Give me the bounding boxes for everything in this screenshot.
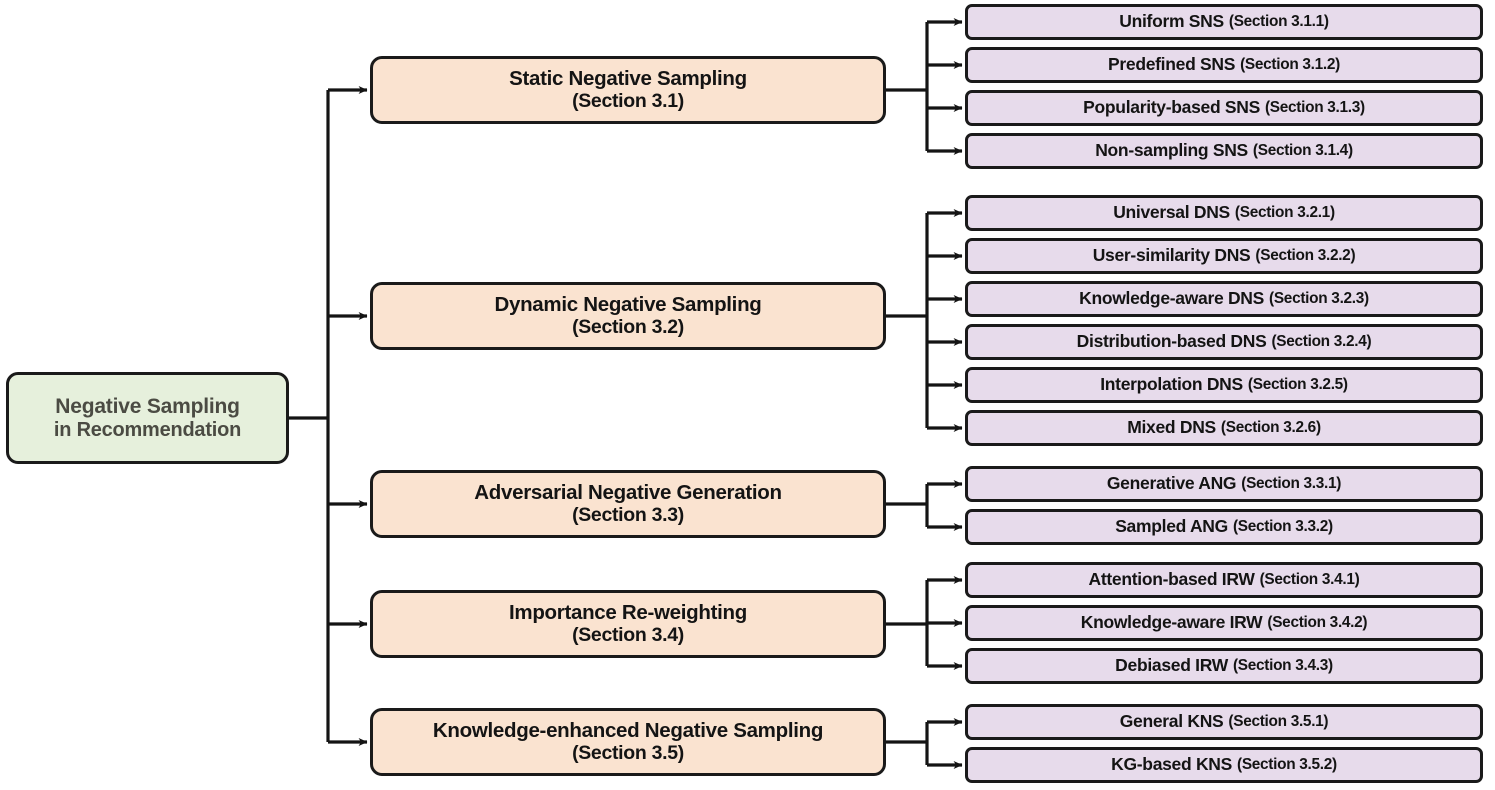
- branch-node-title: Adversarial Negative Generation: [474, 482, 781, 505]
- branch-node-dynamic-negative-sampling[interactable]: Dynamic Negative Sampling(Section 3.2): [370, 282, 886, 350]
- leaf-node-label: KG-based KNS: [1111, 755, 1232, 775]
- branch-node-section: (Section 3.1): [572, 91, 684, 113]
- leaf-node-section: (Section 3.5.2): [1237, 756, 1337, 773]
- leaf-node-label: Predefined SNS: [1108, 55, 1235, 75]
- leaf-node-section: (Section 3.3.2): [1233, 518, 1333, 535]
- leaf-node-section: (Section 3.2.6): [1221, 419, 1321, 436]
- leaf-node-label: Sampled ANG: [1115, 517, 1228, 537]
- leaf-node-section: (Section 3.2.4): [1271, 333, 1371, 350]
- leaf-node-section: (Section 3.4.3): [1233, 657, 1333, 674]
- leaf-node-kg-based-kns[interactable]: KG-based KNS(Section 3.5.2): [965, 747, 1483, 783]
- branch-node-title: Static Negative Sampling: [509, 68, 747, 91]
- leaf-node-label: Popularity-based SNS: [1083, 98, 1260, 118]
- leaf-node-label: Non-sampling SNS: [1095, 141, 1248, 161]
- branch-node-importance-re-weighting[interactable]: Importance Re-weighting(Section 3.4): [370, 590, 886, 658]
- branch-node-title: Knowledge-enhanced Negative Sampling: [433, 720, 823, 743]
- leaf-node-section: (Section 3.2.5): [1248, 376, 1348, 393]
- leaf-node-generative-ang[interactable]: Generative ANG(Section 3.3.1): [965, 466, 1483, 502]
- leaf-node-knowledge-aware-irw[interactable]: Knowledge-aware IRW(Section 3.4.2): [965, 605, 1483, 641]
- root-node-line2: in Recommendation: [54, 419, 241, 441]
- leaf-node-label: Distribution-based DNS: [1077, 332, 1267, 352]
- leaf-node-universal-dns[interactable]: Universal DNS(Section 3.2.1): [965, 195, 1483, 231]
- leaf-node-section: (Section 3.1.3): [1265, 99, 1365, 116]
- leaf-node-label: Knowledge-aware DNS: [1079, 289, 1264, 309]
- leaf-node-section: (Section 3.4.1): [1260, 571, 1360, 588]
- leaf-node-label: User-similarity DNS: [1093, 246, 1251, 266]
- branch-node-section: (Section 3.3): [572, 505, 684, 527]
- leaf-node-label: Interpolation DNS: [1100, 375, 1243, 395]
- branch-node-knowledge-enhanced-negative-sampling[interactable]: Knowledge-enhanced Negative Sampling(Sec…: [370, 708, 886, 776]
- leaf-node-popularity-based-sns[interactable]: Popularity-based SNS(Section 3.1.3): [965, 90, 1483, 126]
- leaf-node-label: Debiased IRW: [1115, 656, 1228, 676]
- leaf-node-label: Universal DNS: [1113, 203, 1230, 223]
- leaf-node-attention-based-irw[interactable]: Attention-based IRW(Section 3.4.1): [965, 562, 1483, 598]
- leaf-node-label: Attention-based IRW: [1089, 570, 1255, 590]
- branch-node-title: Dynamic Negative Sampling: [494, 294, 761, 317]
- leaf-node-section: (Section 3.1.1): [1229, 13, 1329, 30]
- branch-node-title: Importance Re-weighting: [509, 602, 747, 625]
- branch-node-static-negative-sampling[interactable]: Static Negative Sampling(Section 3.1): [370, 56, 886, 124]
- leaf-node-interpolation-dns[interactable]: Interpolation DNS(Section 3.2.5): [965, 367, 1483, 403]
- leaf-node-section: (Section 3.1.4): [1253, 142, 1353, 159]
- leaf-node-debiased-irw[interactable]: Debiased IRW(Section 3.4.3): [965, 648, 1483, 684]
- leaf-node-section: (Section 3.2.2): [1255, 247, 1355, 264]
- leaf-node-distribution-based-dns[interactable]: Distribution-based DNS(Section 3.2.4): [965, 324, 1483, 360]
- leaf-node-section: (Section 3.2.3): [1269, 290, 1369, 307]
- leaf-node-section: (Section 3.1.2): [1240, 56, 1340, 73]
- branch-node-section: (Section 3.2): [572, 317, 684, 339]
- leaf-node-non-sampling-sns[interactable]: Non-sampling SNS(Section 3.1.4): [965, 133, 1483, 169]
- leaf-node-label: General KNS: [1120, 712, 1224, 732]
- branch-node-adversarial-negative-generation[interactable]: Adversarial Negative Generation(Section …: [370, 470, 886, 538]
- leaf-node-label: Mixed DNS: [1127, 418, 1216, 438]
- leaf-node-section: (Section 3.3.1): [1241, 475, 1341, 492]
- leaf-node-label: Uniform SNS: [1119, 12, 1224, 32]
- leaf-node-user-similarity-dns[interactable]: User-similarity DNS(Section 3.2.2): [965, 238, 1483, 274]
- root-node-negative-sampling[interactable]: Negative Sampling in Recommendation: [6, 372, 289, 464]
- root-node-line1: Negative Sampling: [55, 395, 239, 419]
- leaf-node-predefined-sns[interactable]: Predefined SNS(Section 3.1.2): [965, 47, 1483, 83]
- leaf-node-label: Generative ANG: [1107, 474, 1236, 494]
- leaf-node-section: (Section 3.2.1): [1235, 204, 1335, 221]
- branch-node-section: (Section 3.5): [572, 743, 684, 765]
- leaf-node-sampled-ang[interactable]: Sampled ANG(Section 3.3.2): [965, 509, 1483, 545]
- leaf-node-general-kns[interactable]: General KNS(Section 3.5.1): [965, 704, 1483, 740]
- branch-node-section: (Section 3.4): [572, 625, 684, 647]
- leaf-node-mixed-dns[interactable]: Mixed DNS(Section 3.2.6): [965, 410, 1483, 446]
- leaf-node-label: Knowledge-aware IRW: [1081, 613, 1263, 633]
- leaf-node-section: (Section 3.4.2): [1267, 614, 1367, 631]
- leaf-node-section: (Section 3.5.1): [1228, 713, 1328, 730]
- taxonomy-diagram: Negative Sampling in Recommendation Stat…: [0, 0, 1495, 790]
- leaf-node-knowledge-aware-dns[interactable]: Knowledge-aware DNS(Section 3.2.3): [965, 281, 1483, 317]
- leaf-node-uniform-sns[interactable]: Uniform SNS(Section 3.1.1): [965, 4, 1483, 40]
